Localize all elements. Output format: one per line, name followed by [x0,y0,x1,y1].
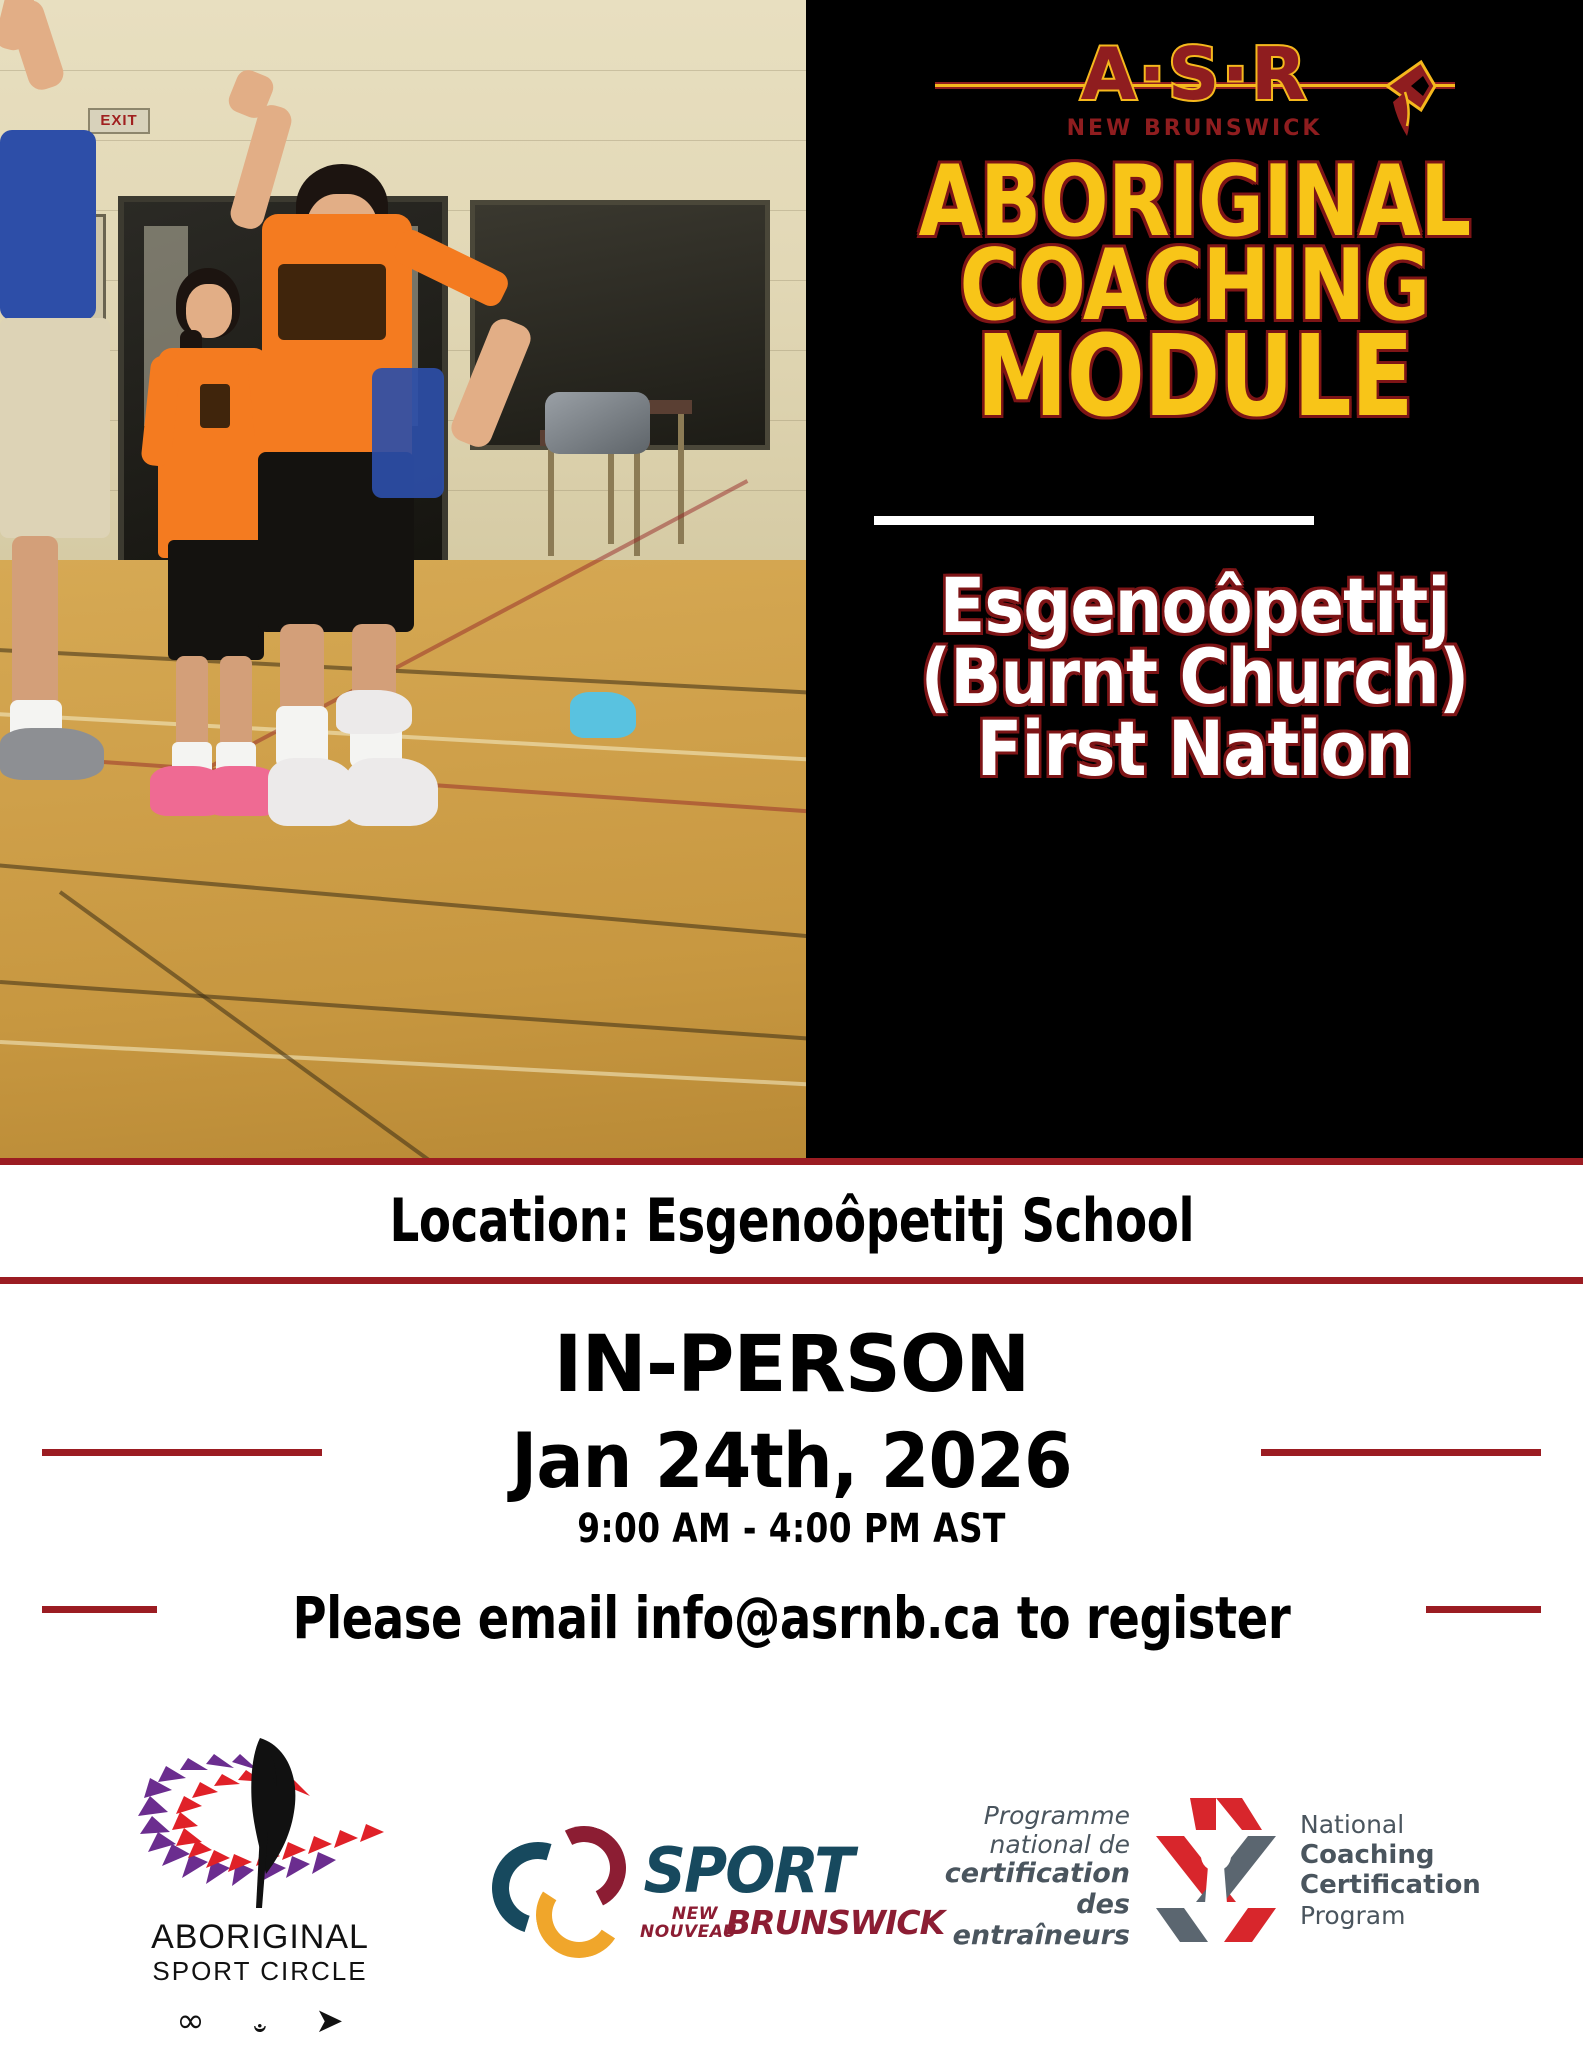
nccp-fr-line2: national de [900,1831,1130,1860]
subhead-line-2: (Burnt Church) [870,641,1519,712]
feather-glyph-icon: ➤ [315,2004,344,2038]
nccp-english-text: National Coaching Certification Program [1300,1810,1500,1930]
asr-logo: A·S·R NEW BRUNSWICK [935,30,1455,150]
event-format: IN-PERSON [0,1320,1583,1410]
nccp-en-line2: Coaching [1300,1840,1500,1871]
nccp-fr-line4: entraîneurs [900,1921,1130,1952]
nccp-en-line1: National [1300,1810,1500,1840]
nccp-french-text: Programme national de certification des … [900,1802,1130,1951]
exit-sign: EXIT [88,108,150,134]
location-text: Location: Esgenoôpetitj School [389,1186,1194,1256]
location-bar: Location: Esgenoôpetitj School [0,1165,1583,1277]
asc-name: ABORIGINAL [110,1918,410,1957]
registration-instruction[interactable]: Please email info@asrnb.ca to register [158,1584,1424,1652]
title-panel: A·S·R NEW BRUNSWICK ABORIGINAL COACHING … [806,0,1583,1158]
poster-headline: ABORIGINAL COACHING MODULE [806,160,1583,425]
headline-line-3: MODULE [896,329,1494,425]
nccp-en-line3: Certification [1300,1870,1500,1901]
sportnb-bilingual-label: NEW NOUVEAU [640,1906,718,1942]
event-details: IN-PERSON Jan 24th, 2026 9:00 AM - 4:00 … [0,1284,1583,1724]
poster-subheadline: Esgenoôpetitj (Burnt Church) First Natio… [806,570,1583,784]
hero-banner: EXIT [0,0,1583,1158]
inukshuk-glyph-icon: ಀ [253,2004,267,2038]
divider-location [0,1277,1583,1284]
nccp-maple-chevron-icon [1150,1796,1282,1946]
nccp-fr-line1: Programme [900,1802,1130,1831]
sportnb-wordmark: SPORT [644,1840,853,1902]
infinity-glyph-icon: ∞ [176,2004,204,2038]
asc-subtitle: SPORT CIRCLE [110,1956,410,1987]
asc-glyph-row: ∞ ಀ ➤ [110,2004,410,2038]
asc-feather-circle-icon [110,1732,410,1917]
gymnasium-photo: EXIT [0,0,806,1158]
aboriginal-sport-circle-logo: ABORIGINAL SPORT CIRCLE ∞ ಀ ➤ [110,1732,410,2032]
nccp-en-line4: Program [1300,1901,1500,1931]
event-time: 9:00 AM - 4:00 PM AST [142,1506,1440,1552]
asr-wordmark: A·S·R [1081,38,1309,110]
asr-subtitle: NEW BRUNSWICK [1067,118,1323,140]
rule-left-register [42,1606,157,1613]
subhead-line-3: First Nation [870,713,1519,784]
gym-floor [0,560,806,1158]
rule-right-register [1426,1606,1541,1613]
partner-logos: ABORIGINAL SPORT CIRCLE ∞ ಀ ➤ SPORT NEW … [0,1724,1583,2054]
sport-new-brunswick-logo: SPORT NEW NOUVEAU BRUNSWICK [490,1820,780,1950]
nccp-fr-line3: certification des [900,1859,1130,1921]
divider-top [0,1158,1583,1165]
event-date: Jan 24th, 2026 [63,1416,1519,1505]
sportnb-nouveau-label: NOUVEAU [640,1922,737,1942]
headline-divider [874,516,1314,525]
subhead-line-1: Esgenoôpetitj [870,570,1519,641]
nccp-logo: Programme national de certification des … [900,1796,1460,1976]
gym-bag [545,392,650,454]
